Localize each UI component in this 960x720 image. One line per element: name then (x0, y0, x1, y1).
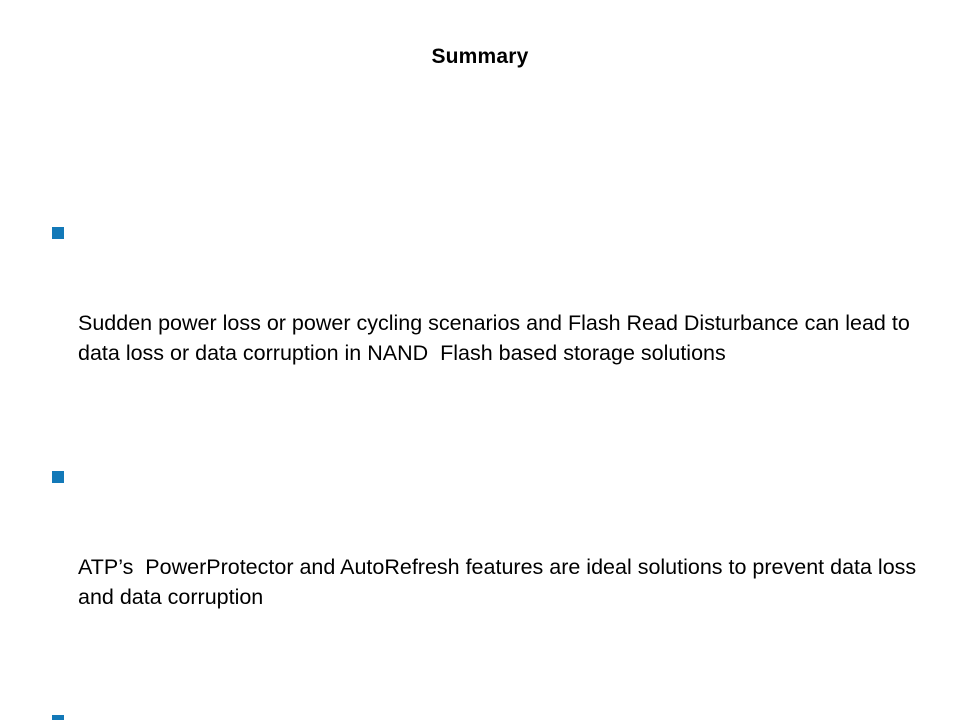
square-bullet-icon (52, 227, 64, 239)
list-item: ATP’s PowerProtector and AutoRefresh fea… (52, 462, 942, 672)
presentation-slide: Summary Sudden power loss or power cycli… (0, 0, 960, 720)
list-item-text: ATP’s PowerProtector and AutoRefresh fea… (78, 552, 942, 612)
square-bullet-icon (52, 715, 64, 720)
page-title: Summary (0, 44, 960, 70)
list-item: To learn more about ATP’s PowerProtector… (52, 706, 942, 720)
list-item: Sudden power loss or power cycling scena… (52, 218, 942, 428)
list-item-text: Sudden power loss or power cycling scena… (78, 308, 942, 368)
bullet-list: Sudden power loss or power cycling scena… (52, 218, 942, 720)
square-bullet-icon (52, 471, 64, 483)
